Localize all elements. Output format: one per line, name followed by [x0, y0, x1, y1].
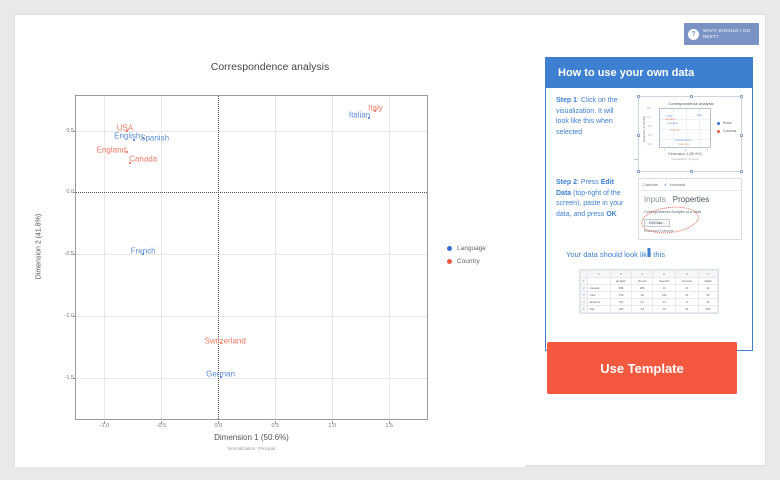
data-point-label: Italy	[368, 103, 383, 112]
mini-legend-item-columns: Columns	[717, 129, 736, 133]
spreadsheet-cell[interactable]: 16	[653, 306, 676, 313]
data-point-label: USA	[117, 123, 133, 132]
mini-data-point-label: French	[670, 128, 679, 132]
app-window: Correspondence analysis -1.0-0.50.00.51.…	[14, 14, 766, 466]
data-point-label: Spanish	[140, 134, 169, 143]
next-badge-label: WHAT SHOULD I DO NEXT?	[703, 28, 755, 40]
spreadsheet-cell[interactable]: 11	[699, 285, 718, 292]
spreadsheet-cell[interactable]: 10	[653, 285, 676, 292]
spreadsheet-cell[interactable]: Spanish	[653, 278, 676, 285]
mini-data-point-label: Canada	[667, 121, 678, 125]
gridline-vertical	[389, 96, 390, 419]
spreadsheet-cell[interactable]: 24	[632, 306, 653, 313]
mini-y-axis-label: Dimension 2 (41.8%)	[642, 111, 646, 147]
x-axis-label: Dimension 1 (50.6%)	[75, 433, 428, 442]
preview-tabs: Inputs Properties	[639, 191, 741, 206]
spreadsheet-preview: ABCDEF 1EnglishFrenchSpanishGermanItalia…	[579, 269, 719, 314]
y-tick-label: -1.5	[62, 375, 74, 381]
step-2-text: Step 2: Press Edit Data (top-right of th…	[556, 178, 630, 220]
spreadsheet-row: 1EnglishFrenchSpanishGermanItalian	[581, 278, 718, 285]
what-should-i-do-next-badge[interactable]: ? WHAT SHOULD I DO NEXT?	[684, 23, 759, 45]
spreadsheet-column-header: B	[610, 271, 632, 278]
spreadsheet-cell[interactable]: Italy	[587, 306, 610, 313]
spreadsheet-cell[interactable]: 26	[632, 292, 653, 299]
mini-y-tick-label: -0.5	[647, 125, 651, 128]
gridline-horizontal	[76, 316, 427, 317]
x-axis-subtitle: Normalization: Principal	[75, 446, 428, 451]
legend-label-language: Language	[457, 245, 486, 252]
data-section: Your data should look like this ABCDEF 1…	[556, 248, 742, 314]
spreadsheet-cell[interactable]: 8	[676, 299, 699, 306]
step-2-thumbnail: Calculate ✔Automatic Inputs Properties C…	[638, 178, 742, 240]
spreadsheet-table: ABCDEF 1EnglishFrenchSpanishGermanItalia…	[580, 270, 718, 313]
spreadsheet-cell[interactable]: 700	[610, 299, 632, 306]
calculate-button-preview: Calculate	[643, 183, 658, 187]
spreadsheet-cell[interactable]: 840	[699, 306, 718, 313]
spreadsheet-cell[interactable]: Italian	[699, 278, 718, 285]
x-tick-label: -0.5	[157, 423, 166, 429]
spreadsheet-cell[interactable]: 180	[610, 306, 632, 313]
spreadsheet-cell[interactable]: 31	[699, 299, 718, 306]
mini-y-tick-label: -1.0	[647, 134, 651, 137]
mini-legend-label-rows: Rows	[723, 121, 731, 125]
x-tick-label: 0.5	[271, 423, 279, 429]
spreadsheet-cell[interactable]: 688	[610, 285, 632, 292]
how-to-body: Step 1: Click on the visualization. It w…	[546, 88, 752, 314]
legend-item-language: Language	[447, 245, 486, 252]
selection-handle-bl[interactable]	[637, 170, 640, 173]
spreadsheet-cell[interactable]: 24	[653, 299, 676, 306]
spreadsheet-column-headers: ABCDEF	[581, 271, 718, 278]
spreadsheet-cell[interactable]: Canada	[587, 285, 610, 292]
spreadsheet-cell[interactable]: German	[676, 278, 699, 285]
y-tick-label: 0.0	[62, 189, 74, 195]
how-to-header: How to use your own data	[546, 58, 752, 88]
selection-handle-tc[interactable]	[690, 95, 693, 98]
zero-line-horizontal	[76, 192, 427, 193]
mini-legend-dot-rows	[717, 122, 720, 125]
spreadsheet-column-header: D	[653, 271, 676, 278]
step-2-ok-emphasis: OK	[606, 211, 617, 218]
data-point-label: English	[114, 132, 140, 141]
selection-handle-tr[interactable]	[740, 95, 743, 98]
legend-label-country: Country	[457, 258, 480, 265]
mini-x-tick-label: -1	[663, 149, 665, 152]
check-icon: ✔	[664, 182, 667, 187]
x-tick-label: 0.0	[215, 423, 223, 429]
chart-title: Correspondence analysis	[15, 61, 525, 73]
data-point-label: England	[97, 145, 126, 154]
spreadsheet-cell[interactable]: 730	[610, 292, 632, 299]
spreadsheet-column-header: C	[632, 271, 653, 278]
legend-dot-language	[447, 246, 452, 251]
spreadsheet-cell[interactable]: 280	[632, 285, 653, 292]
spreadsheet-cell[interactable]: England	[587, 299, 610, 306]
step-2-body-a: : Press	[577, 179, 601, 186]
cursor-icon	[648, 248, 651, 257]
data-point[interactable]	[126, 151, 128, 153]
mini-chart-title: Correspondence analysis	[639, 101, 743, 106]
spreadsheet-row: 2Canada688280101111	[581, 285, 718, 292]
mini-x-tick-label: 1	[707, 149, 708, 152]
x-tick-label: 1.5	[385, 423, 393, 429]
spreadsheet-cell[interactable]: 31	[632, 299, 653, 306]
mini-y-tick-label: 0.5	[647, 107, 651, 110]
spreadsheet-cell[interactable]: French	[632, 278, 653, 285]
mini-data-point-label: German	[679, 142, 690, 146]
use-template-button[interactable]: Use Template	[547, 342, 737, 394]
legend-dot-country	[447, 259, 452, 264]
mini-y-tick-label: -1.5	[647, 143, 651, 146]
spreadsheet-cell[interactable]: 61	[676, 292, 699, 299]
mini-chart-preview: Correspondence analysis Dimension 1 (50.…	[638, 96, 742, 172]
how-to-panel: How to use your own data Step 1: Click o…	[545, 57, 753, 351]
mini-legend: Rows Columns	[717, 121, 736, 137]
data-point-label: Canada	[129, 154, 157, 163]
tab-inputs-preview: Inputs	[644, 195, 666, 204]
mini-x-axis-subtitle: Normalization: Principal	[645, 158, 725, 161]
gridline-vertical	[161, 96, 162, 419]
automatic-checkbox-preview: ✔Automatic	[664, 182, 685, 187]
spreadsheet-column-header: A	[587, 271, 610, 278]
gridline-vertical	[275, 96, 276, 419]
data-point-label: Switzerland	[204, 336, 245, 345]
data-point-label: French	[131, 247, 156, 256]
gridline-horizontal	[76, 378, 427, 379]
step-2-label: Step 2	[556, 179, 577, 186]
step-2-block: Step 2: Press Edit Data (top-right of th…	[556, 178, 742, 242]
spreadsheet-body: 1EnglishFrenchSpanishGermanItalian2Canad…	[581, 278, 718, 313]
selection-handle-tl[interactable]	[637, 95, 640, 98]
data-point-label: Italian	[349, 111, 370, 120]
x-tick-label: 1.0	[328, 423, 336, 429]
spreadsheet-column-header: F	[699, 271, 718, 278]
mini-legend-item-rows: Rows	[717, 121, 736, 125]
right-column: ? WHAT SHOULD I DO NEXT? How to use your…	[525, 15, 767, 467]
legend-item-country: Country	[447, 258, 486, 265]
gridline-horizontal	[76, 254, 427, 255]
mini-data-point-label: Italy	[697, 113, 703, 117]
spreadsheet-column-header: E	[676, 271, 699, 278]
y-axis-label: Dimension 2 (41.8%)	[36, 147, 43, 347]
chart-panel[interactable]: Correspondence analysis -1.0-0.50.00.51.…	[15, 15, 525, 467]
mini-x-axis-label: Dimension 1 (50.6%)	[645, 152, 725, 156]
spreadsheet-row: 4England7003124831	[581, 299, 718, 306]
spreadsheet-cell[interactable]: 83	[699, 292, 718, 299]
preview-toolbar: Calculate ✔Automatic	[639, 179, 741, 191]
spreadsheet-cell[interactable]: English	[610, 278, 632, 285]
selection-handle-br[interactable]	[740, 170, 743, 173]
selection-handle-bc[interactable]	[690, 170, 693, 173]
spreadsheet-cell[interactable]: 190	[653, 292, 676, 299]
plot-area[interactable]: -1.0-0.50.00.51.01.50.50.0-0.5-1.0-1.5En…	[75, 95, 428, 420]
y-tick-label: 0.5	[62, 128, 74, 134]
mini-legend-dot-columns	[717, 130, 720, 133]
tab-properties-preview: Properties	[673, 195, 709, 204]
spreadsheet-row: 5Italy180241631840	[581, 306, 718, 313]
chart-legend: Language Country	[447, 245, 486, 271]
step-1-text: Step 1: Click on the visualization. It w…	[556, 96, 626, 138]
step-1-block: Step 1: Click on the visualization. It w…	[556, 96, 742, 172]
mini-y-tick-label: 0.0	[647, 116, 651, 119]
y-tick-label: -0.5	[62, 251, 74, 257]
mini-legend-label-columns: Columns	[723, 129, 736, 133]
spreadsheet-cell[interactable]: USA	[587, 292, 610, 299]
properties-panel-preview: Calculate ✔Automatic Inputs Properties C…	[638, 178, 742, 240]
mini-gridline-horizontal	[660, 129, 710, 130]
spreadsheet-cell[interactable]	[587, 278, 610, 285]
automatic-label: Automatic	[669, 183, 685, 187]
gridline-vertical	[332, 96, 333, 419]
spreadsheet-row: 3USA730261906183	[581, 292, 718, 299]
spreadsheet-cell[interactable]: 31	[676, 306, 699, 313]
question-mark-icon: ?	[688, 29, 699, 40]
data-point-label: German	[206, 370, 235, 379]
selection-handle-mr[interactable]	[740, 134, 743, 137]
step-1-label: Step 1	[556, 97, 577, 104]
x-tick-label: -1.0	[100, 423, 109, 429]
selection-handle-ml[interactable]	[637, 134, 640, 137]
mini-x-tick-label: 0	[685, 149, 686, 152]
spreadsheet-cell[interactable]: 11	[676, 285, 699, 292]
step-1-thumbnail: Correspondence analysis Dimension 1 (50.…	[638, 96, 742, 172]
y-tick-label: -1.0	[62, 313, 74, 319]
